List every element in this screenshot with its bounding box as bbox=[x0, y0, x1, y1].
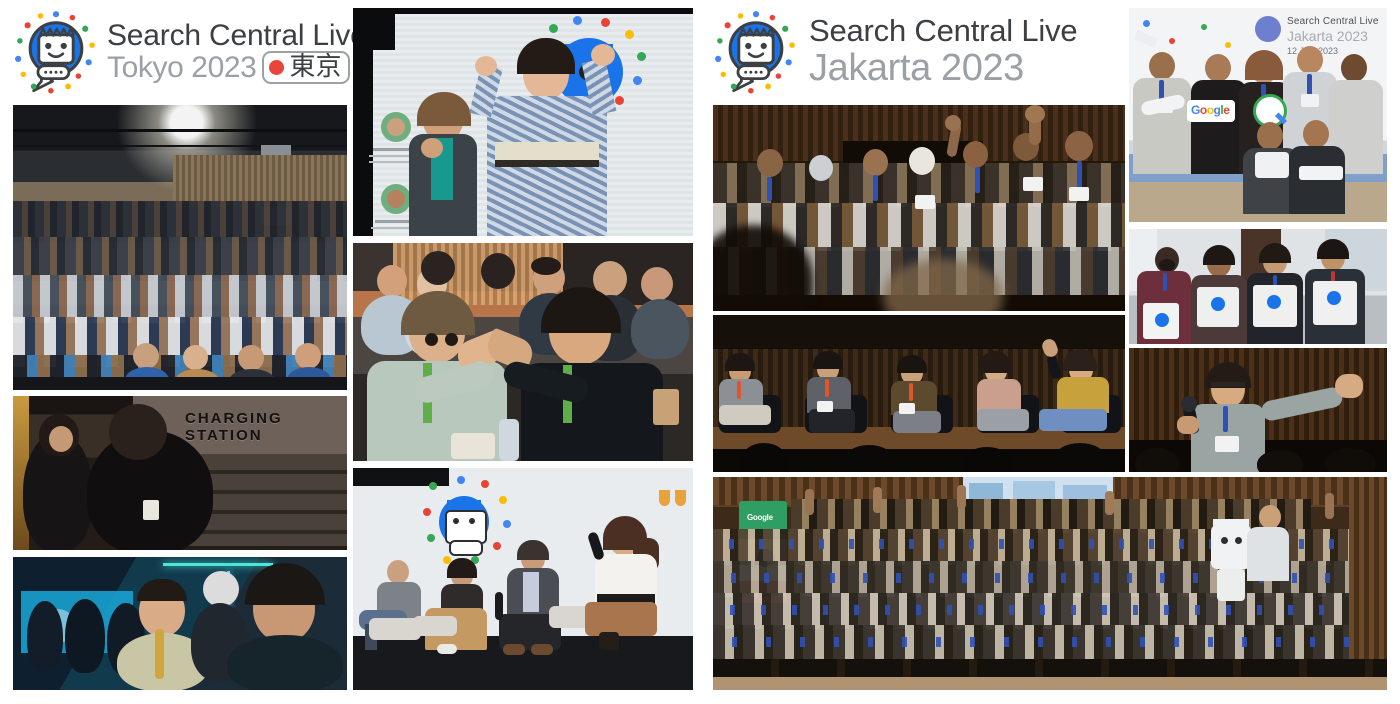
jakarta-logo-lockup: Search Central Live Jakarta 2023 bbox=[713, 6, 1113, 98]
search-central-mascot-icon bbox=[713, 9, 799, 95]
backdrop-line1: Search Central Live bbox=[1287, 16, 1379, 27]
photo-tokyo-charging-station: CHARGING STATION bbox=[13, 396, 347, 550]
photo-jakarta-audience-laughing bbox=[713, 105, 1125, 311]
charging-station-caption: CHARGING STATION bbox=[185, 410, 347, 444]
jakarta-logo-line1: Search Central Live bbox=[809, 15, 1077, 48]
backdrop-line2: Jakarta 2023 bbox=[1287, 28, 1368, 44]
japan-flag-dot-icon bbox=[269, 60, 284, 75]
photo-tokyo-networking-drinks bbox=[13, 557, 347, 690]
tokyo-logo-line1: Search Central Live bbox=[107, 20, 367, 52]
japan-badge: 東京 bbox=[262, 51, 350, 84]
collage-page: Search Central Live Tokyo 2023 東京 bbox=[0, 0, 1400, 704]
japan-badge-text: 東京 bbox=[289, 54, 341, 80]
photo-jakarta-tote-bags bbox=[1129, 229, 1387, 344]
photo-tokyo-heart-hands-audience bbox=[353, 243, 693, 461]
photo-jakarta-group-photo-backdrop: Search Central Live Jakarta 2023 12 July… bbox=[1129, 8, 1387, 222]
photo-jakarta-audience-question bbox=[1129, 348, 1387, 472]
photo-tokyo-panel-discussion bbox=[353, 468, 693, 690]
jakarta-logo-line2: Jakarta 2023 bbox=[809, 49, 1077, 89]
tokyo-logo-line2: Tokyo 2023 bbox=[107, 52, 256, 84]
photo-tokyo-audience-wide bbox=[13, 105, 347, 390]
photo-jakarta-full-group-photo: Google bbox=[713, 477, 1387, 690]
photo-jakarta-panel-stage bbox=[713, 315, 1125, 472]
photo-tokyo-stage-kimono-speaker bbox=[353, 8, 693, 236]
tokyo-logo-lockup: Search Central Live Tokyo 2023 東京 bbox=[13, 6, 353, 98]
search-central-mascot-icon bbox=[13, 9, 99, 95]
